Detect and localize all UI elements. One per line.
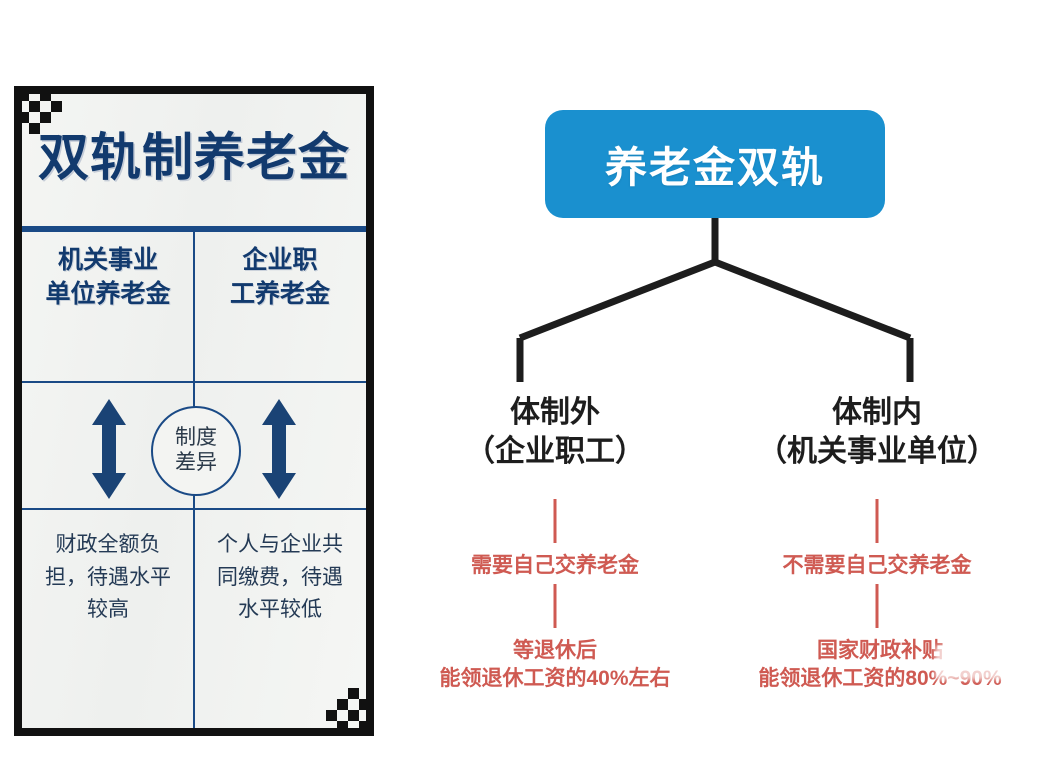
branch-title-line2: （机关事业单位）: [727, 432, 1027, 471]
checkerboard-corner-icon: [318, 680, 370, 732]
branch-title-line2: （企业职工）: [405, 432, 705, 471]
branch-outcome-line2: 能领退休工资的40%左右: [395, 665, 715, 693]
double-arrow-vertical-icon: [262, 399, 296, 499]
branch-title-line1: 体制外: [405, 393, 705, 432]
root-node: 养老金双轨: [545, 110, 885, 218]
column-description-government: 财政全额负担，待遇水平较高: [22, 529, 194, 627]
column-header-enterprise: 企业职 工养老金: [194, 244, 366, 312]
branch-outcome-line1: 等退休后: [395, 637, 715, 665]
column-description-enterprise: 个人与企业共同缴费，待遇水平较低: [194, 529, 366, 627]
branch-title-line1: 体制内: [727, 393, 1027, 432]
column-header-line2: 单位养老金: [22, 278, 194, 312]
branch-title-inside-system: 体制内 （机关事业单位）: [727, 393, 1027, 471]
checkerboard-corner-icon: [18, 90, 70, 142]
badge-line2: 差异: [175, 451, 217, 476]
badge-line1: 制度: [175, 426, 217, 451]
column-header-line1: 机关事业: [22, 244, 194, 278]
page-title: 双轨制养老金: [22, 116, 366, 190]
column-header-line1: 企业职: [194, 244, 366, 278]
column-header-line2: 工养老金: [194, 278, 366, 312]
root-node-label: 养老金双轨: [605, 134, 825, 195]
branch-note-outside-system: 需要自己交养老金: [405, 549, 705, 579]
pension-dual-track-tree-diagram: 养老金双轨 体制外 （企业职工） 体制内 （机关事业单位） 需要自己交养老金 不…: [390, 0, 1037, 774]
column-header-government: 机关事业 单位养老金: [22, 244, 194, 312]
system-difference-badge: 制度 差异: [151, 406, 241, 496]
branch-note-inside-system: 不需要自己交养老金: [727, 549, 1027, 579]
branch-title-outside-system: 体制外 （企业职工）: [405, 393, 705, 471]
double-arrow-vertical-icon: [92, 399, 126, 499]
dual-track-pension-card: 双轨制养老金 机关事业 单位养老金 企业职 工养老金 制度 差异 财政全额负担，…: [14, 86, 374, 736]
watermark-overlay: [935, 645, 1035, 680]
branch-outcome-outside-system: 等退休后 能领退休工资的40%左右: [395, 637, 715, 694]
